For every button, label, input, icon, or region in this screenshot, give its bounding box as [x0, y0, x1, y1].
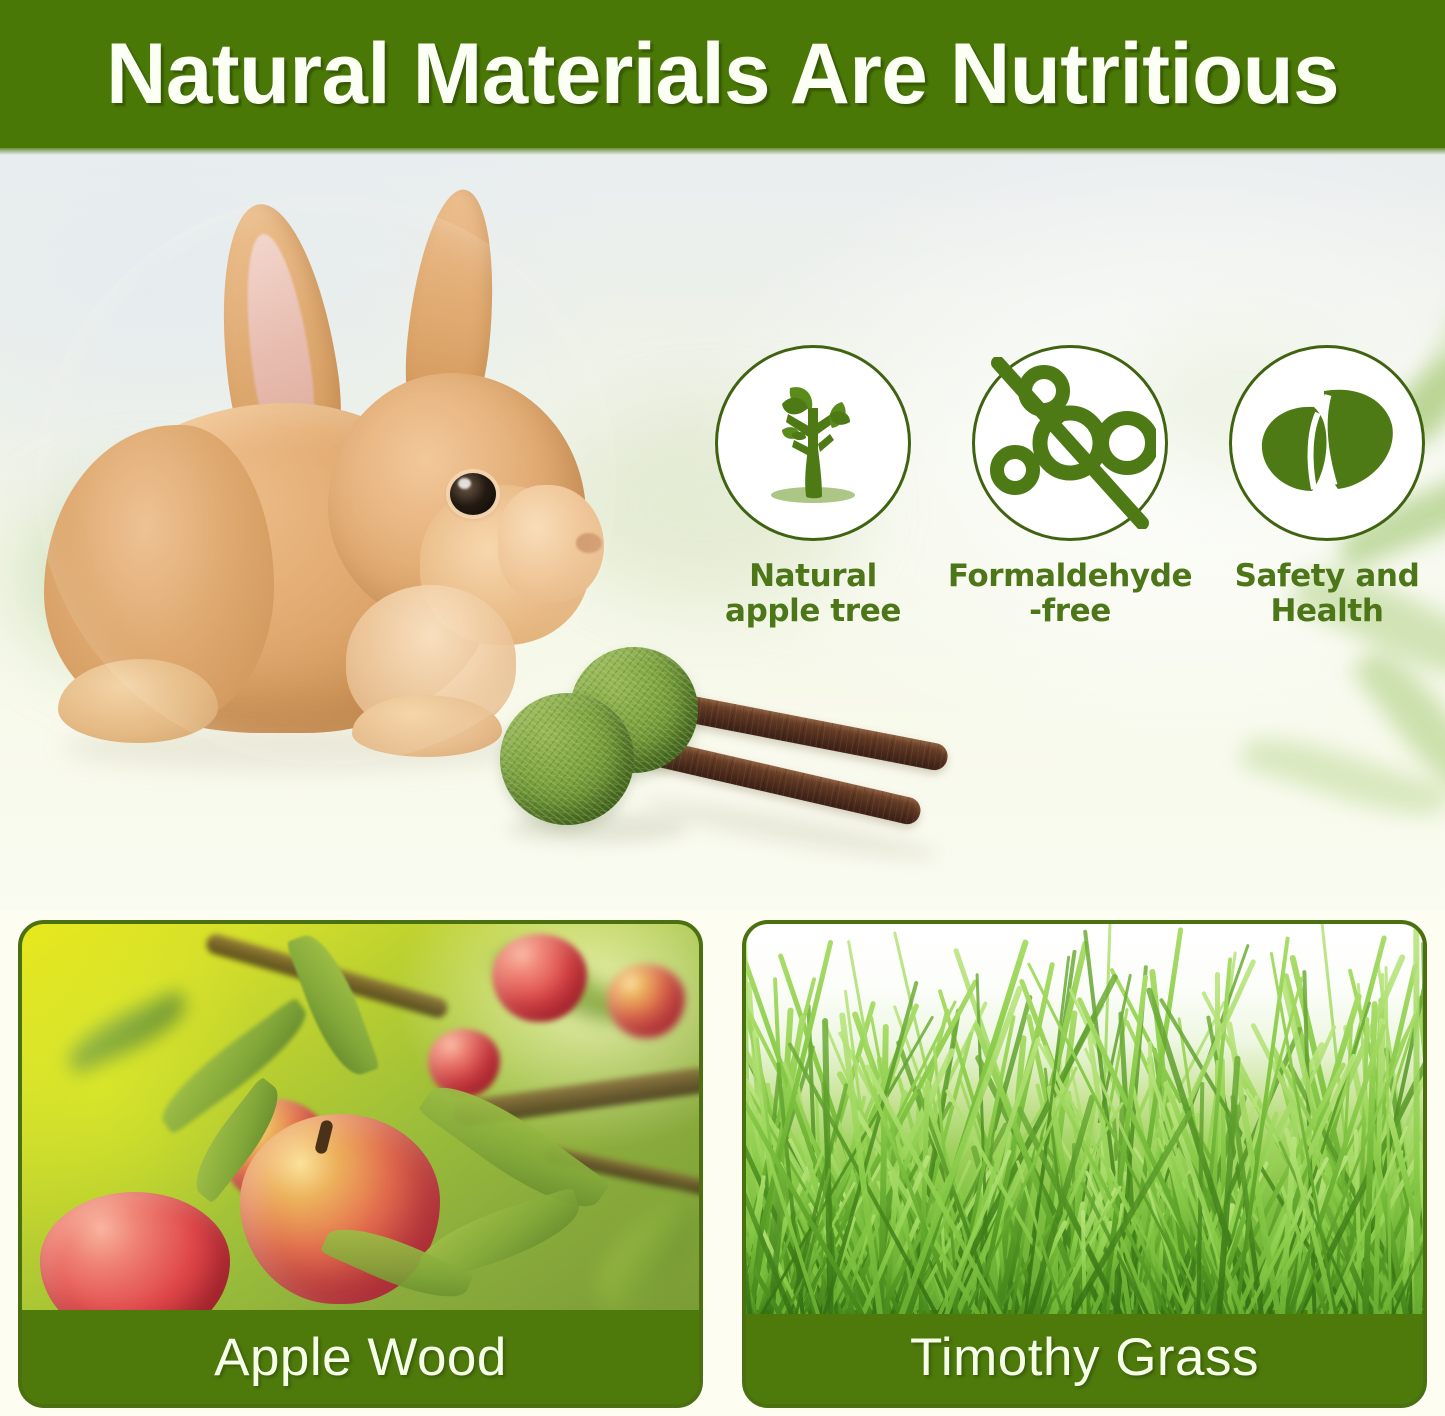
- hero-section: Natural apple tree: [0, 155, 1445, 910]
- badge-label-line1: Safety and: [1235, 559, 1420, 594]
- material-cards: Apple Wood Timothy Grass: [0, 912, 1445, 1416]
- apple-tree-icon: [738, 368, 888, 518]
- card-timothy-grass[interactable]: Timothy Grass: [742, 920, 1427, 1408]
- badge-formaldehyde-free: Formaldehyde -free: [957, 345, 1183, 630]
- badge-circle: [972, 345, 1168, 541]
- rabbit-eye-highlight: [458, 478, 471, 489]
- badge-safety-and-health: Safety and Health: [1214, 345, 1440, 630]
- apple: [492, 934, 587, 1022]
- card-label-text: Apple Wood: [214, 1327, 507, 1388]
- no-formaldehyde-icon: [984, 357, 1156, 529]
- badge-circle: [1229, 345, 1425, 541]
- product-infographic: Natural Materials Are Nutritious: [0, 0, 1445, 1416]
- card-label-text: Timothy Grass: [910, 1327, 1259, 1388]
- header-banner: Natural Materials Are Nutritious: [0, 0, 1445, 148]
- feature-badges: Natural apple tree: [700, 345, 1440, 655]
- rabbit-eye: [450, 473, 496, 515]
- badge-label-line1: Formaldehyde: [948, 559, 1192, 594]
- badge-label: Natural apple tree: [725, 559, 901, 630]
- badge-label-line2: Health: [1235, 594, 1420, 629]
- apple-orchard-photo: [22, 924, 699, 1314]
- badge-label-line2: -free: [948, 594, 1192, 629]
- timothy-grass-photo: [746, 924, 1423, 1314]
- card-label-bar: Apple Wood: [22, 1310, 699, 1404]
- badge-label: Formaldehyde -free: [948, 559, 1192, 630]
- rabbit-nose: [576, 533, 602, 553]
- banner-divider: [0, 148, 1445, 155]
- timothy-grass-ball: [500, 693, 634, 825]
- card-label-bar: Timothy Grass: [746, 1310, 1423, 1404]
- badge-label-line1: Natural: [725, 559, 901, 594]
- apple: [607, 964, 685, 1038]
- grass-blades: [746, 924, 1423, 1314]
- card-apple-wood[interactable]: Apple Wood: [18, 920, 703, 1408]
- badge-label-line2: apple tree: [725, 594, 901, 629]
- badge-natural-apple-tree: Natural apple tree: [700, 345, 926, 630]
- product-photo: [470, 645, 990, 875]
- badge-label: Safety and Health: [1235, 559, 1420, 630]
- badge-circle: [715, 345, 911, 541]
- page-title: Natural Materials Are Nutritious: [106, 31, 1339, 117]
- two-leaves-icon: [1252, 373, 1402, 513]
